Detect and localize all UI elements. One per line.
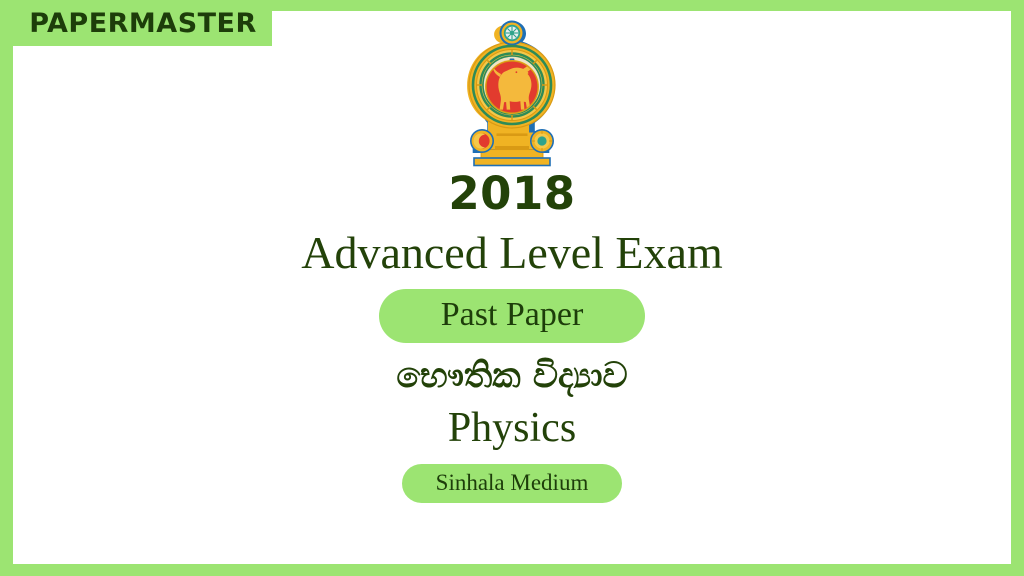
paper-type-badge: Past Paper <box>379 289 646 343</box>
paper-type-row: Past Paper <box>13 278 1011 343</box>
subject-name-sinhala: භෞතික විද්‍යාව <box>13 357 1011 396</box>
poster-frame: PAPERMASTER <box>0 0 1024 576</box>
subject-name-english: Physics <box>13 405 1011 451</box>
exam-title: Advanced Level Exam <box>13 228 1011 278</box>
medium-badge: Sinhala Medium <box>402 464 623 503</box>
exam-year: 2018 <box>13 171 1011 216</box>
poster-canvas: PAPERMASTER <box>13 11 1011 564</box>
poster-content: 2018 Advanced Level Exam Past Paper භෞති… <box>13 171 1011 503</box>
emblem-container <box>13 15 1011 175</box>
sri-lanka-national-emblem-icon <box>446 15 578 175</box>
medium-row: Sinhala Medium <box>13 451 1011 503</box>
